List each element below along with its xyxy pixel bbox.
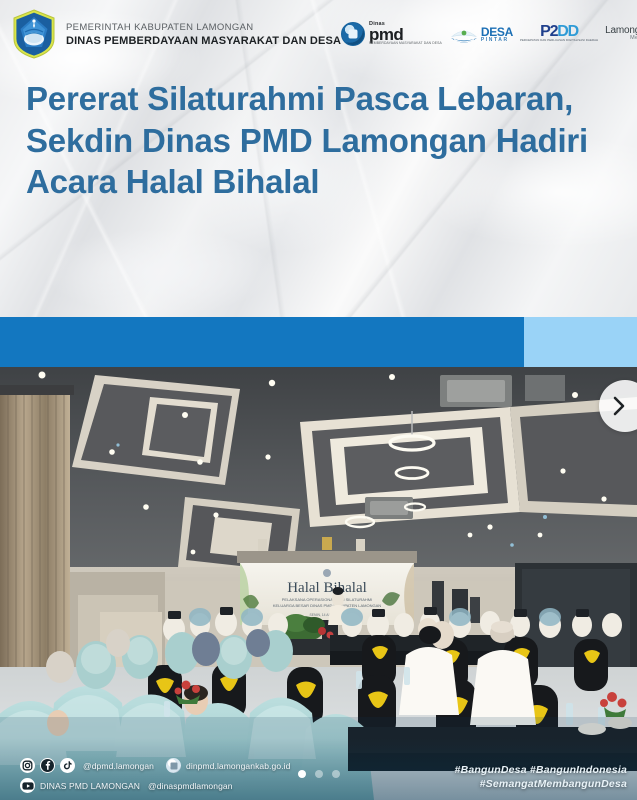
website-url[interactable]: dinpmd.lamongankab.go.id	[186, 761, 290, 771]
logo-desa-sub-label: PINTAR	[481, 38, 513, 43]
social-handles: @dpmd.lamongan dinpmd.lamongankab.go.id …	[20, 758, 290, 793]
social-row-primary: @dpmd.lamongan dinpmd.lamongankab.go.id	[20, 758, 290, 773]
accent-band-dark	[0, 317, 524, 367]
logo-lamongan-sub-label: Megilan	[605, 36, 637, 42]
news-card: PEMERINTAH KABUPATEN LAMONGAN DINAS PEMB…	[0, 0, 637, 800]
department-line: DINAS PEMBERDAYAAN MASYARAKAT DAN DESA	[66, 35, 341, 47]
tiktok-icon[interactable]	[60, 758, 75, 773]
instagram-icon[interactable]	[20, 758, 35, 773]
pmd-seal-icon	[341, 22, 365, 46]
social-row-secondary: DINAS PMD LAMONGAN @dinaspmdlamongan	[20, 778, 290, 793]
article-title: Pererat Silaturahmi Pasca Lebaran, Sekdi…	[26, 78, 596, 203]
event-photo: Halal Bihalal PELAKSANA OPERASIONAL DAN …	[0, 367, 637, 800]
youtube-channel-name[interactable]: DINAS PMD LAMONGAN	[40, 781, 140, 791]
government-line: PEMERINTAH KABUPATEN LAMONGAN	[66, 22, 341, 33]
carousel-dots[interactable]	[298, 770, 340, 778]
card-header: PEMERINTAH KABUPATEN LAMONGAN DINAS PEMB…	[0, 0, 637, 68]
desa-pintar-mark-icon	[449, 23, 479, 45]
header-text-block: PEMERINTAH KABUPATEN LAMONGAN DINAS PEMB…	[66, 22, 341, 47]
svg-text:Halal Bihalal: Halal Bihalal	[287, 580, 367, 596]
hashtag-line-2: #SemangatMembangunDesa	[455, 777, 627, 791]
facebook-icon[interactable]	[40, 758, 55, 773]
website-seal-icon	[166, 758, 181, 773]
social-footer: @dpmd.lamongan dinpmd.lamongankab.go.id …	[0, 738, 637, 800]
svg-text:KELUARGA BESAR DINAS PMD KABUP: KELUARGA BESAR DINAS PMD KABUPATEN LAMON…	[273, 603, 381, 608]
logo-p2dd-sub-label: PERCEPATAN DAN PERLUASAN DIGITALISASI DA…	[520, 39, 598, 42]
hashtag-block: #BangunDesa #BangunIndonesia #SemangatMe…	[455, 763, 627, 793]
lamongan-regency-emblem-icon	[12, 9, 56, 59]
carousel-dot-3[interactable]	[332, 770, 340, 778]
logo-p2dd: P2DD PERCEPATAN DAN PERLUASAN DIGITALISA…	[520, 17, 598, 51]
chevron-right-icon	[608, 395, 630, 417]
partner-logo-strip: Dinas pmd PEMBERDAYAAN MASYARAKAT DAN DE…	[341, 17, 637, 51]
carousel-dot-1[interactable]	[298, 770, 306, 778]
logo-desa-pintar: DESA PINTAR	[449, 17, 513, 51]
youtube-handle[interactable]: @dinaspmdlamongan	[148, 781, 233, 791]
logo-lamongan-megilan: Lamongan Megilan	[605, 17, 637, 51]
logo-p2dd-main-label: P2DD	[540, 25, 578, 39]
logo-pmd-main-label: pmd	[369, 28, 442, 42]
youtube-icon[interactable]	[20, 778, 35, 793]
accent-band-light	[524, 317, 637, 367]
svg-text:PELAKSANA OPERASIONAL DAN SILA: PELAKSANA OPERASIONAL DAN SILATURAHMI	[282, 597, 372, 602]
logo-pmd: Dinas pmd PEMBERDAYAAN MASYARAKAT DAN DE…	[341, 17, 442, 51]
logo-pmd-sub-label: PEMBERDAYAAN MASYARAKAT DAN DESA	[369, 42, 442, 45]
instagram-handle[interactable]: @dpmd.lamongan	[83, 761, 154, 771]
carousel-dot-2[interactable]	[315, 770, 323, 778]
hashtag-line-1: #BangunDesa #BangunIndonesia	[455, 763, 627, 777]
logo-desa-main-label: DESA	[481, 26, 513, 38]
